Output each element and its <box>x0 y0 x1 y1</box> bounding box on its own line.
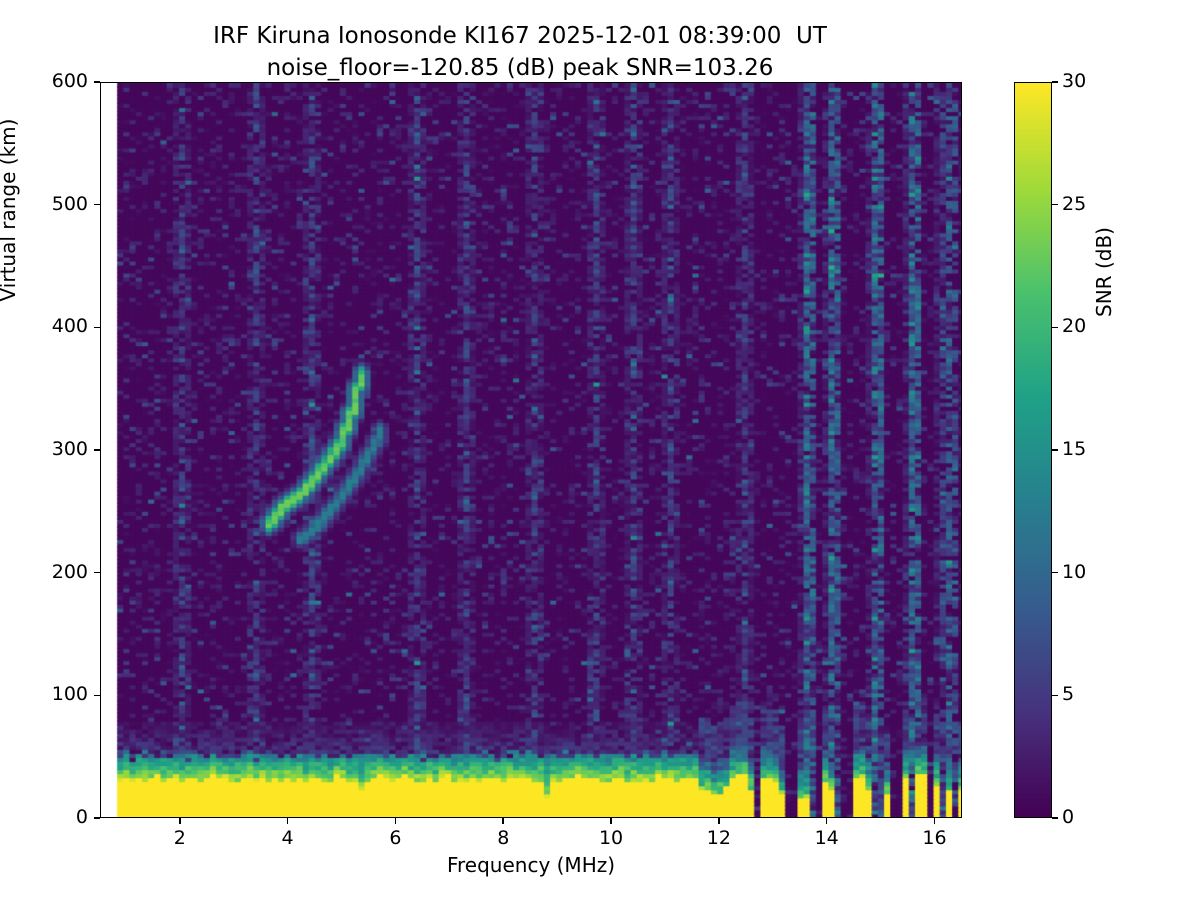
y-tick-label: 200 <box>14 561 88 583</box>
y-tick-label: 300 <box>14 438 88 460</box>
x-tick-mark <box>179 818 181 824</box>
x-axis-label: Frequency (MHz) <box>100 853 962 877</box>
x-tick-label: 8 <box>473 827 533 849</box>
x-tick-label: 14 <box>797 827 857 849</box>
colorbar-tick-mark <box>1052 81 1058 83</box>
y-tick-mark <box>94 449 100 451</box>
y-tick-label: 600 <box>14 70 88 92</box>
colorbar-tick-label: 30 <box>1062 70 1108 92</box>
colorbar-tick-mark <box>1052 572 1058 574</box>
x-tick-mark <box>610 818 612 824</box>
colorbar-tick-mark <box>1052 817 1058 819</box>
x-tick-label: 4 <box>258 827 318 849</box>
y-tick-label: 500 <box>14 193 88 215</box>
colorbar-tick-mark <box>1052 449 1058 451</box>
x-tick-mark <box>934 818 936 824</box>
y-tick-label: 0 <box>14 806 88 828</box>
figure-title-line1: IRF Kiruna Ionosonde KI167 2025-12-01 08… <box>213 23 827 49</box>
colorbar-tick-mark <box>1052 204 1058 206</box>
x-tick-label: 2 <box>150 827 210 849</box>
y-tick-mark <box>94 572 100 574</box>
y-tick-mark <box>94 695 100 697</box>
colorbar-gradient <box>1015 83 1051 817</box>
x-tick-label: 6 <box>365 827 425 849</box>
y-tick-mark <box>94 327 100 329</box>
colorbar-tick-mark <box>1052 695 1058 697</box>
colorbar-tick-label: 15 <box>1062 438 1108 460</box>
x-tick-mark <box>395 818 397 824</box>
y-axis-label: Virtual range (km) <box>0 90 20 330</box>
colorbar-label: SNR (dB) <box>1092 172 1116 372</box>
x-tick-label: 12 <box>689 827 749 849</box>
colorbar-tick-label: 0 <box>1062 806 1108 828</box>
ionogram-plot-area <box>100 82 962 818</box>
x-tick-label: 10 <box>581 827 641 849</box>
colorbar-tick-label: 10 <box>1062 561 1108 583</box>
x-tick-mark <box>718 818 720 824</box>
y-tick-mark <box>94 817 100 819</box>
y-tick-mark <box>94 81 100 83</box>
colorbar-tick-mark <box>1052 327 1058 329</box>
y-tick-mark <box>94 204 100 206</box>
figure-title-line2: noise_floor=-120.85 (dB) peak SNR=103.26 <box>267 55 774 81</box>
colorbar <box>1014 82 1052 818</box>
x-tick-mark <box>502 818 504 824</box>
x-tick-label: 16 <box>905 827 965 849</box>
figure-title: IRF Kiruna Ionosonde KI167 2025-12-01 08… <box>0 20 1040 84</box>
x-tick-mark <box>826 818 828 824</box>
ionogram-heatmap <box>101 83 961 817</box>
colorbar-tick-label: 5 <box>1062 683 1108 705</box>
y-tick-label: 400 <box>14 315 88 337</box>
y-tick-label: 100 <box>14 683 88 705</box>
x-tick-mark <box>287 818 289 824</box>
ionogram-figure: IRF Kiruna Ionosonde KI167 2025-12-01 08… <box>0 0 1200 900</box>
